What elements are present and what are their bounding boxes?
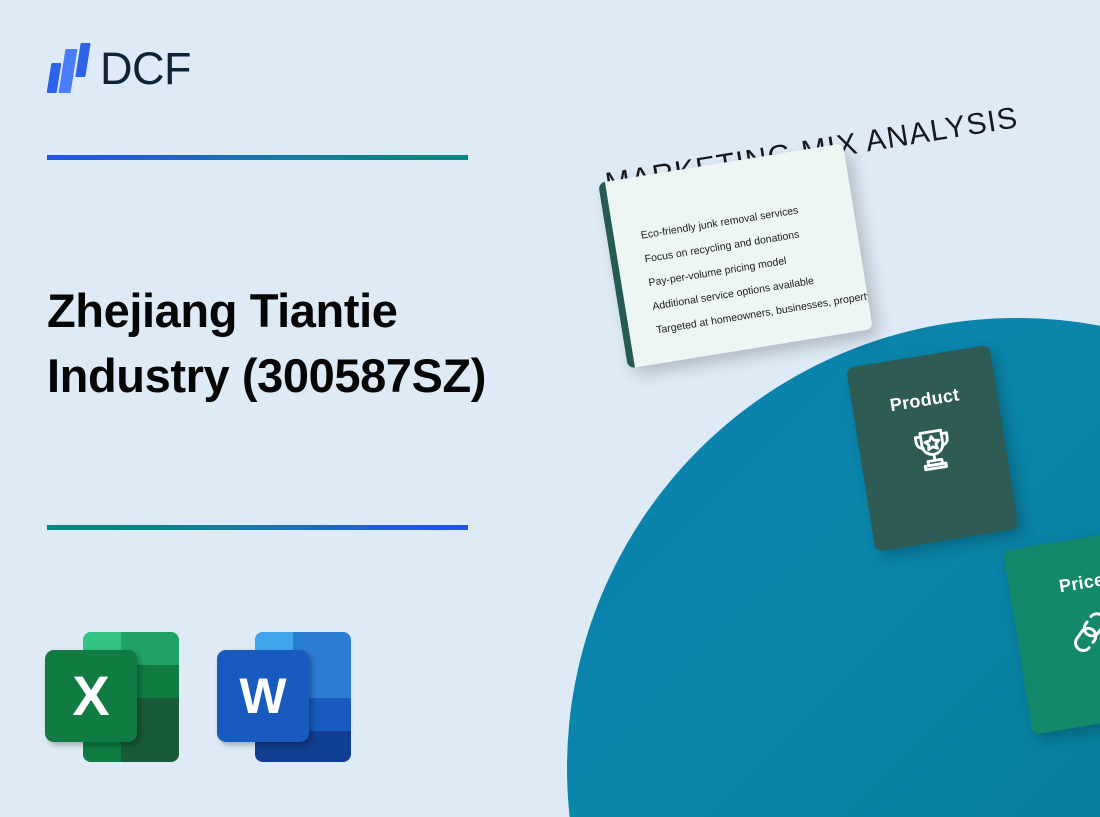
excel-file-icon[interactable]: X — [45, 630, 185, 766]
left-content-column: DCF Zhejiang Tiantie Industry (300587SZ)… — [0, 0, 540, 817]
attachment-icon-row: X W — [45, 630, 357, 766]
divider-top — [47, 155, 468, 160]
product-card-body: Eco-friendly junk removal services Focus… — [598, 143, 873, 368]
word-file-icon[interactable]: W — [217, 630, 357, 766]
page-title: Zhejiang Tiantie Industry (300587SZ) — [47, 279, 502, 409]
word-letter-badge: W — [217, 650, 309, 742]
divider-bottom — [47, 525, 468, 530]
dcf-bars-logo-icon — [47, 41, 91, 95]
marketing-mix-graphic: MARKETING MIX ANALYSIS Eco-friendly junk… — [540, 0, 1100, 817]
brand-logo-text: DCF — [100, 46, 191, 91]
product-card-tab[interactable]: Product — [846, 345, 1019, 552]
slide-canvas: DCF Zhejiang Tiantie Industry (300587SZ)… — [0, 0, 1100, 817]
link-chain-icon — [1014, 593, 1100, 671]
product-bullet-list: Eco-friendly junk removal services Focus… — [640, 199, 857, 350]
excel-letter-badge: X — [45, 650, 137, 742]
brand-logo[interactable]: DCF — [47, 38, 191, 98]
trophy-icon — [857, 410, 1009, 488]
price-label: Price — [1008, 561, 1100, 605]
price-card-tab[interactable]: Price — [1003, 528, 1100, 735]
